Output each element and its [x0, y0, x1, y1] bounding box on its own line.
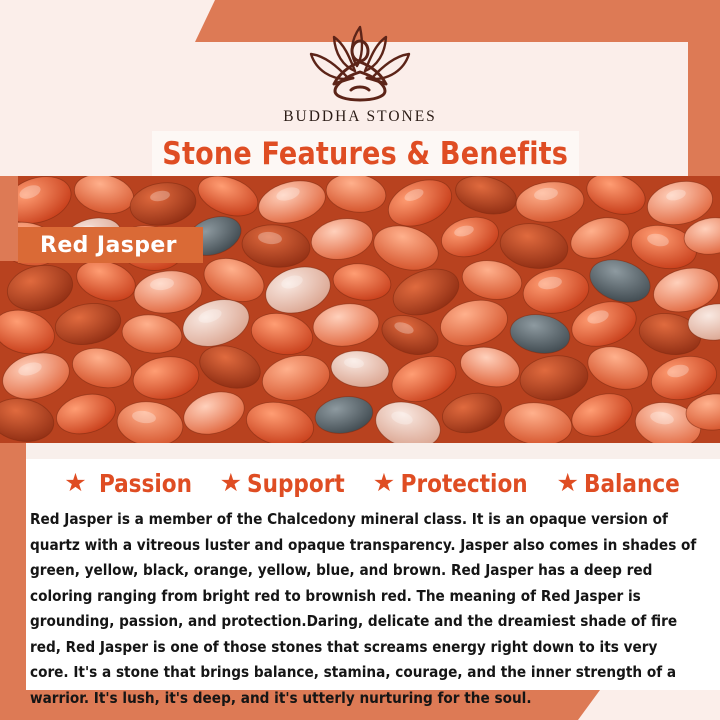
photo-left-orange-notch	[0, 176, 18, 261]
benefit-item: ★ Support	[220, 469, 347, 498]
description-panel: ★ Passion ★ Support ★ Protection ★ Balan…	[26, 443, 720, 690]
star-icon: ★	[64, 471, 86, 496]
brand-name: BUDDHA STONES	[280, 108, 440, 126]
stone-description: Red Jasper is a member of the Chalcedony…	[30, 507, 698, 711]
star-icon: ★	[373, 471, 395, 496]
benefit-item: ★ Protection	[373, 469, 531, 498]
benefit-label-support: Support	[247, 469, 345, 498]
panel-top-fade	[26, 443, 720, 459]
benefit-label-passion: Passion	[99, 469, 192, 498]
stone-pile-graphic	[0, 176, 720, 443]
benefit-label-balance: Balance	[584, 469, 680, 498]
left-orange-band	[0, 443, 26, 690]
benefit-label-protection: Protection	[401, 469, 528, 498]
benefits-row: ★ Passion ★ Support ★ Protection ★ Balan…	[26, 469, 720, 498]
benefit-item: ★ Passion	[64, 469, 193, 498]
page-title: Stone Features & Benefits	[163, 136, 569, 172]
stone-name: Red Jasper	[40, 233, 177, 258]
red-jasper-photo	[0, 176, 720, 443]
logo: BUDDHA STONES	[280, 14, 440, 126]
stone-name-badge: Red Jasper	[18, 227, 203, 263]
star-icon: ★	[557, 471, 579, 496]
lotus-meditation-figure-icon	[287, 22, 433, 104]
benefit-item: ★ Balance	[557, 469, 682, 498]
star-icon: ★	[220, 471, 242, 496]
infographic-page: BUDDHA STONES Stone Features & Benefits	[0, 0, 720, 720]
title-panel: Stone Features & Benefits	[152, 131, 579, 176]
